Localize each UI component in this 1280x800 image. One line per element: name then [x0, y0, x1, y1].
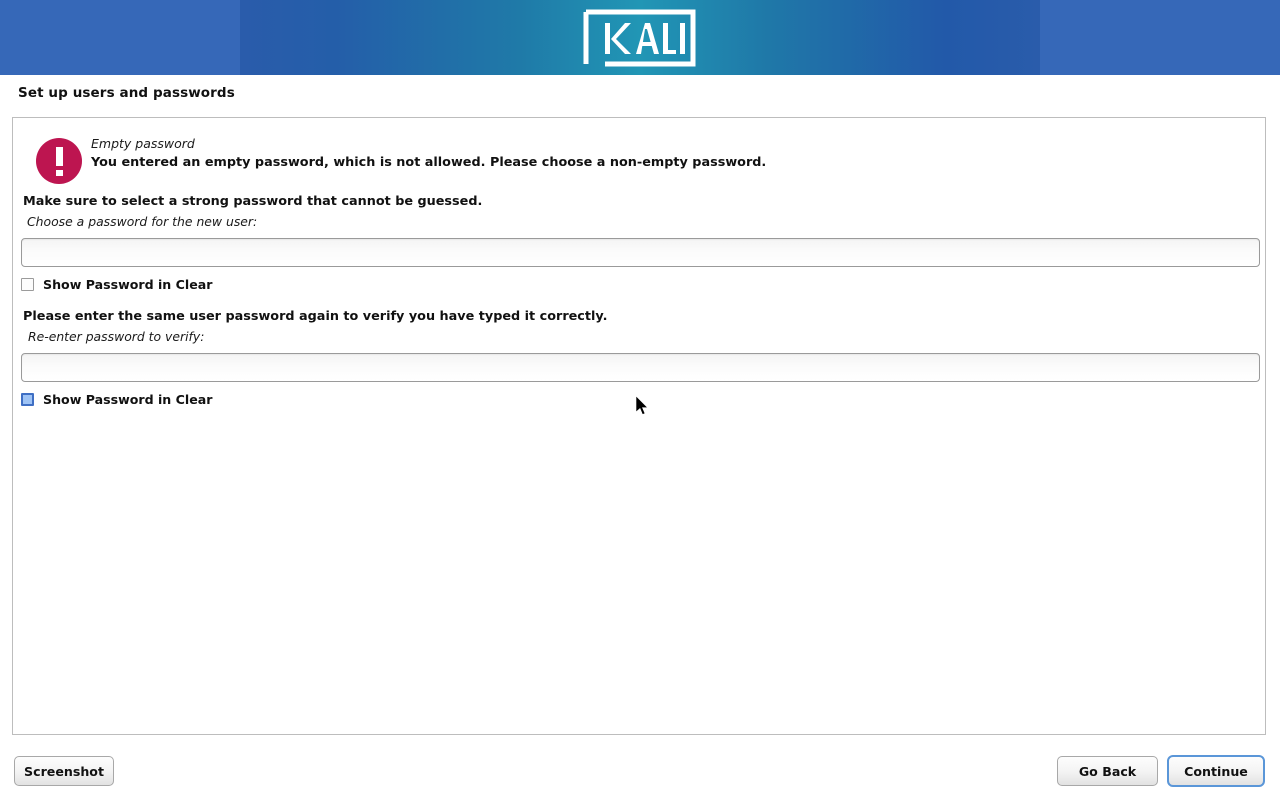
screenshot-button[interactable]: Screenshot [14, 756, 114, 786]
password-field-label: Choose a password for the new user: [27, 214, 257, 229]
show-password-checkbox-2[interactable] [21, 393, 34, 406]
go-back-button[interactable]: Go Back [1057, 756, 1158, 786]
kali-header-banner [0, 0, 1280, 75]
verify-password-input[interactable] [21, 353, 1260, 382]
verify-field-label: Re-enter password to verify: [28, 329, 204, 344]
installer-screen: Set up users and passwords Empty passwor… [0, 0, 1280, 800]
error-message-text: You entered an empty password, which is … [91, 155, 766, 170]
error-exclamation-icon [36, 138, 82, 184]
show-password-label-1: Show Password in Clear [43, 277, 212, 292]
show-password-checkbox-1[interactable] [21, 278, 34, 291]
show-password-checkbox-row-1[interactable]: Show Password in Clear [21, 275, 212, 293]
verify-password-hint: Please enter the same user password agai… [23, 309, 607, 324]
kali-logo-icon [583, 9, 696, 67]
password-input[interactable] [21, 238, 1260, 267]
continue-button[interactable]: Continue [1167, 755, 1265, 787]
show-password-checkbox-row-2[interactable]: Show Password in Clear [21, 390, 212, 408]
error-message-block: Empty password You entered an empty pass… [23, 126, 1253, 184]
page-title: Set up users and passwords [18, 85, 235, 101]
strong-password-hint: Make sure to select a strong password th… [23, 194, 482, 209]
show-password-label-2: Show Password in Clear [43, 392, 212, 407]
main-content-panel: Empty password You entered an empty pass… [12, 117, 1266, 735]
error-title: Empty password [91, 136, 195, 151]
